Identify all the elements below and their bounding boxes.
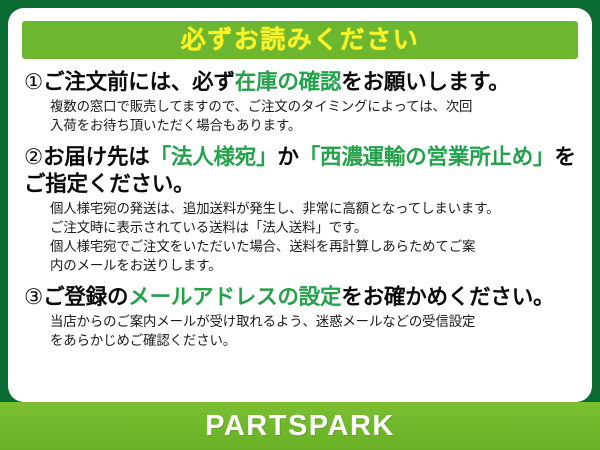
highlighted-phrase: 「西濃運輸の営業所止め」: [299, 145, 555, 169]
notice-item-heading: ①ご注文前には、必ず在庫の確認をお願いします。: [24, 69, 576, 95]
description-line: ご注文時に表示されている送料は「法人送料」です。: [50, 218, 576, 237]
notice-item-description: 当店からのご案内メールが受け取れるよう、迷惑メールなどの受信設定をあらかじめご確…: [50, 312, 576, 350]
highlighted-phrase: メールアドレスの設定: [128, 285, 341, 309]
notice-item: ①ご注文前には、必ず在庫の確認をお願いします。複数の窓口で販売してますので、ご注…: [24, 69, 576, 135]
notice-card: 必ずお読みください ①ご注文前には、必ず在庫の確認をお願いします。複数の窓口で販…: [0, 0, 600, 450]
heading-text: ご登録の: [43, 285, 128, 309]
description-line: 個人様宅宛でご注文をいただいた場合、送料を再計算しあらためてご案: [50, 237, 576, 256]
notice-item-list: ①ご注文前には、必ず在庫の確認をお願いします。複数の窓口で販売してますので、ご注…: [22, 59, 578, 396]
header-bar: 必ずお読みください: [22, 21, 578, 59]
white-panel: 必ずお読みください ①ご注文前には、必ず在庫の確認をお願いします。複数の窓口で販…: [8, 8, 592, 402]
notice-item-heading: ②お届け先は「法人様宛」か「西濃運輸の営業所止め」をご指定ください。: [24, 144, 576, 196]
notice-item-marker: ①: [24, 70, 43, 94]
panel-frame: 必ずお読みください ①ご注文前には、必ず在庫の確認をお願いします。複数の窓口で販…: [0, 0, 600, 402]
notice-item-heading: ③ご登録のメールアドレスの設定をお確かめください。: [24, 284, 576, 310]
heading-text: ご注文前には、必ず: [43, 70, 235, 94]
description-line: 複数の窓口で販売してますので、ご注文のタイミングによっては、次回: [50, 97, 576, 116]
description-line: 当店からのご案内メールが受け取れるよう、迷惑メールなどの受信設定: [50, 312, 576, 331]
highlighted-phrase: 在庫の確認: [235, 70, 342, 94]
notice-item-description: 複数の窓口で販売してますので、ご注文のタイミングによっては、次回入荷をお待ち頂い…: [50, 97, 576, 135]
highlighted-phrase: 「法人様宛」: [150, 145, 278, 169]
heading-text: をお確かめください。: [341, 285, 554, 309]
notice-item: ②お届け先は「法人様宛」か「西濃運輸の営業所止め」をご指定ください。個人様宅宛の…: [24, 144, 576, 275]
description-line: をあらかじめご確認ください。: [50, 331, 576, 350]
notice-item-description: 個人様宅宛の発送は、追加送料が発生し、非常に高額となってしまいます。ご注文時に表…: [50, 199, 576, 275]
description-line: 内のメールをお送りします。: [50, 256, 576, 275]
footer-brand-band: PARTSPARK: [0, 402, 600, 450]
notice-item: ③ご登録のメールアドレスの設定をお確かめください。当店からのご案内メールが受け取…: [24, 284, 576, 350]
notice-item-marker: ②: [24, 145, 43, 169]
page-title: 必ずお読みください: [181, 28, 420, 53]
notice-item-marker: ③: [24, 285, 43, 309]
heading-text: か: [277, 145, 298, 169]
heading-text: お届け先は: [43, 145, 150, 169]
description-line: 入荷をお待ち頂いただく場合もあります。: [50, 116, 576, 135]
description-line: 個人様宅宛の発送は、追加送料が発生し、非常に高額となってしまいます。: [50, 199, 576, 218]
brand-logo-text: PARTSPARK: [205, 412, 395, 441]
heading-text: をお願いします。: [341, 70, 509, 94]
